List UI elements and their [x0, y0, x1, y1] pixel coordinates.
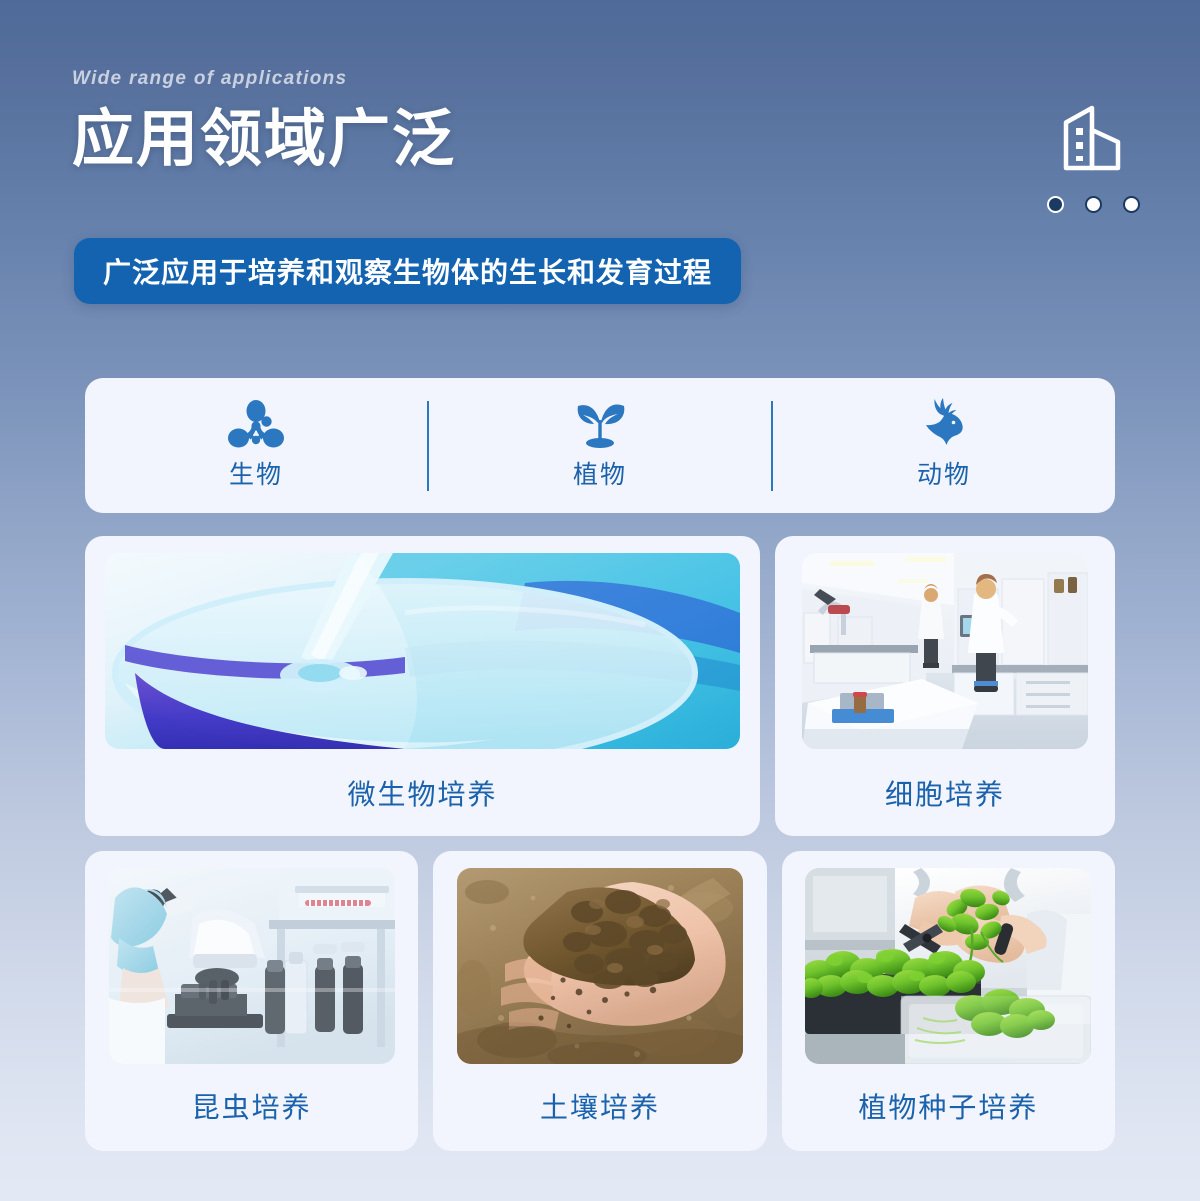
- card-soil-culture[interactable]: 土壤培养: [433, 851, 766, 1151]
- hand-holding-soil-image: [457, 868, 743, 1064]
- category-label-plant: 植物: [573, 463, 627, 488]
- subtitle-banner-text: 广泛应用于培养和观察生物体的生长和发育过程: [103, 251, 712, 291]
- category-item-plant[interactable]: 植物: [429, 378, 771, 513]
- category-label-animal: 动物: [917, 463, 971, 488]
- card-row-2: 昆虫培养: [85, 851, 1115, 1151]
- card-microbe-culture[interactable]: 微生物培养: [85, 536, 760, 836]
- deer-head-icon: [917, 404, 971, 450]
- sprout-icon: [570, 404, 630, 450]
- pagination-dot-3[interactable]: [1123, 196, 1140, 213]
- pagination-dot-1[interactable]: [1047, 196, 1064, 213]
- green-seedlings-image: [805, 868, 1091, 1064]
- page-title: 应用领域广泛: [72, 105, 1132, 174]
- card-label-microbe-culture: 微生物培养: [347, 781, 497, 809]
- microscope-gloved-hand-image: [109, 868, 395, 1064]
- card-grid: 微生物培养: [85, 536, 1115, 1151]
- poster-root: Wide range of applications 应用领域广泛 广泛应用于培…: [0, 0, 1200, 1201]
- laboratory-room-image: [802, 553, 1088, 749]
- molecule-icon: [227, 404, 285, 450]
- corner-mark: [1038, 104, 1148, 213]
- pagination-dot-2[interactable]: [1085, 196, 1102, 213]
- category-item-animal[interactable]: 动物: [773, 378, 1115, 513]
- petri-dish-pipette-image: [105, 553, 740, 749]
- card-label-soil-culture: 土壤培养: [540, 1094, 660, 1122]
- card-insect-culture[interactable]: 昆虫培养: [85, 851, 418, 1151]
- category-item-biology[interactable]: 生物: [85, 378, 427, 513]
- pagination-dots[interactable]: [1047, 196, 1140, 213]
- building-icon: [1062, 104, 1124, 177]
- header: Wide range of applications 应用领域广泛: [72, 68, 1132, 174]
- card-label-insect-culture: 昆虫培养: [192, 1094, 312, 1122]
- category-label-biology: 生物: [229, 463, 283, 488]
- card-row-1: 微生物培养: [85, 536, 1115, 836]
- card-cell-culture[interactable]: 细胞培养: [775, 536, 1115, 836]
- card-label-plant-seed-culture: 植物种子培养: [858, 1094, 1038, 1122]
- category-strip: 生物 植物: [85, 378, 1115, 513]
- card-label-cell-culture: 细胞培养: [885, 781, 1005, 809]
- eyebrow-text: Wide range of applications: [72, 68, 1132, 91]
- card-plant-seed-culture[interactable]: 植物种子培养: [782, 851, 1115, 1151]
- subtitle-banner: 广泛应用于培养和观察生物体的生长和发育过程: [74, 238, 741, 304]
